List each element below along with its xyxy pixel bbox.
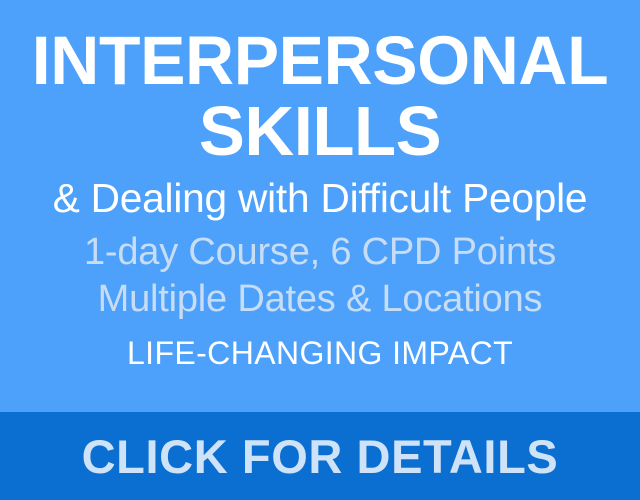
banner-content-area: INTERPERSONAL SKILLS & Dealing with Diff… [0,0,640,412]
headline-line-2: SKILLS [5,94,635,168]
detail-line-course-info: 1-day Course, 6 CPD Points [0,229,640,276]
cta-button-label: CLICK FOR DETAILS [82,432,559,482]
impact-statement: LIFE-CHANGING IMPACT [0,334,640,372]
cta-button[interactable]: CLICK FOR DETAILS [0,412,640,500]
headline-line-1: INTERPERSONAL [5,24,635,98]
subheadline: & Dealing with Difficult People [3,174,637,222]
detail-line-dates-locations: Multiple Dates & Locations [0,276,640,323]
advertisement-banner[interactable]: INTERPERSONAL SKILLS & Dealing with Diff… [0,0,640,500]
